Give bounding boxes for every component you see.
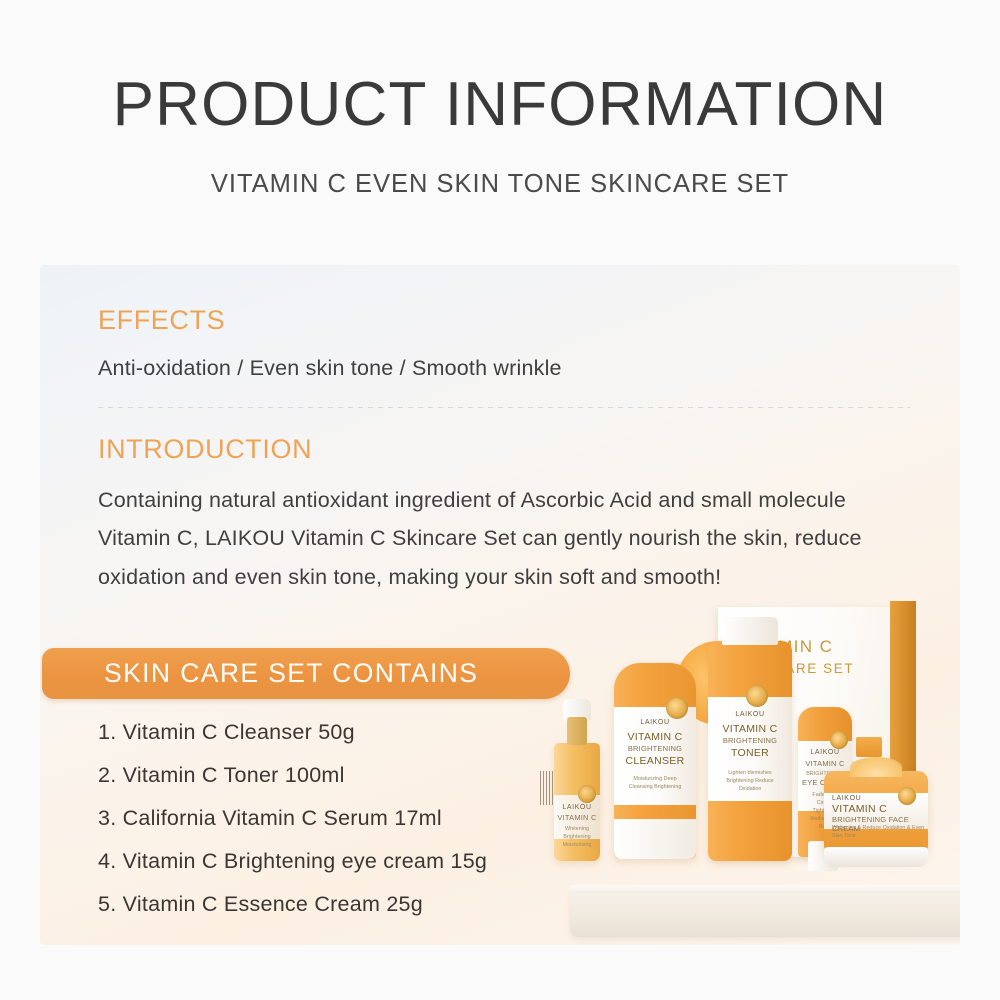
list-item: 4. Vitamin C Brightening eye cream 15g (98, 849, 487, 892)
list-item: 2. Vitamin C Toner 100ml (98, 763, 487, 806)
barcode-icon (540, 771, 555, 805)
toner-label-panel: LAIKOU VITAMIN C BRIGHTENING TONER Light… (708, 697, 792, 801)
face-cream-brand: LAIKOU (824, 795, 936, 802)
cleanser-name-main: VITAMIN C (614, 731, 696, 743)
face-cream-label-panel: LAIKOU VITAMIN C BRIGHTENING FACE CREAM … (824, 793, 928, 829)
cleanser-description: Moisturizing Deep Cleansing Brightening (614, 775, 696, 791)
product-set-photo: VITAMIN C SKINCARE SET Eye Cream 15g/0.5… (540, 595, 960, 943)
vitamin-c-badge-icon (830, 731, 848, 749)
vitamin-c-badge-icon (746, 685, 768, 707)
toner-lid (722, 617, 778, 645)
face-cream-name-main: VITAMIN C (824, 803, 936, 815)
face-cream-swirl (850, 757, 902, 777)
face-cream-base (824, 847, 928, 867)
cleanser-name-sub2: CLEANSER (614, 755, 696, 767)
eye-cream-brand: LAIKOU (798, 749, 852, 756)
page-header: PRODUCT INFORMATION VITAMIN C EVEN SKIN … (0, 0, 1000, 199)
face-cream-jar-icon (856, 737, 882, 757)
contains-banner-label: SKIN CARE SET CONTAINS (42, 658, 478, 689)
section-divider (98, 407, 910, 408)
shelf-surface (570, 885, 960, 893)
list-item: 1. Vitamin C Cleanser 50g (98, 720, 487, 763)
list-item: 5. Vitamin C Essence Cream 25g (98, 892, 487, 935)
introduction-heading: INTRODUCTION (98, 408, 918, 465)
effects-text: Anti-oxidation / Even skin tone / Smooth… (98, 336, 918, 381)
toner-name-main: VITAMIN C (708, 723, 792, 735)
vitamin-c-badge-icon (578, 785, 596, 803)
skin-care-set-contains-banner: SKIN CARE SET CONTAINS (42, 648, 570, 699)
toner-description: Lighten blemishes Brightening Reduce Oxi… (708, 769, 792, 793)
toner-name-sub: BRIGHTENING (708, 736, 792, 745)
product-cleanser: LAIKOU VITAMIN C BRIGHTENING CLEANSER Mo… (614, 663, 696, 859)
product-toner: LAIKOU VITAMIN C BRIGHTENING TONER Light… (708, 641, 792, 861)
cleanser-label-panel: LAIKOU VITAMIN C BRIGHTENING CLEANSER Mo… (614, 707, 696, 805)
skin-care-set-contents-list: 1. Vitamin C Cleanser 50g 2. Vitamin C T… (98, 720, 487, 935)
list-item: 3. California Vitamin C Serum 17ml (98, 806, 487, 849)
card-text-content: EFFECTS Anti-oxidation / Even skin tone … (98, 305, 918, 596)
page-title: PRODUCT INFORMATION (0, 0, 1000, 136)
effects-heading: EFFECTS (98, 305, 918, 336)
product-face-cream: LAIKOU VITAMIN C BRIGHTENING FACE CREAM … (824, 771, 928, 857)
serum-description: Whitening Brightening Moisturizing (554, 825, 600, 849)
page-subtitle: VITAMIN C EVEN SKIN TONE SKINCARE SET (0, 136, 1000, 199)
serum-dropper-neck (567, 717, 587, 745)
cleanser-cap (614, 819, 696, 859)
cleanser-name-sub: BRIGHTENING (614, 744, 696, 753)
serum-name-main: VITAMIN C (554, 813, 600, 822)
cleanser-brand: LAIKOU (614, 719, 696, 726)
product-information-card: EFFECTS Anti-oxidation / Even skin tone … (40, 265, 960, 945)
serum-brand: LAIKOU (554, 804, 600, 811)
face-cream-description: Whitening & Reduce Oxidation & Even Skin… (824, 824, 936, 840)
product-serum: LAIKOU VITAMIN C Whitening Brightening M… (554, 743, 600, 861)
eye-cream-name-main: VITAMIN C (798, 759, 852, 768)
introduction-text: Containing natural antioxidant ingredien… (98, 465, 888, 596)
toner-name-sub2: TONER (708, 747, 792, 759)
shelf-front (570, 893, 960, 937)
vitamin-c-badge-icon (666, 697, 688, 719)
serum-label-panel: LAIKOU VITAMIN C Whitening Brightening M… (554, 795, 600, 839)
toner-brand: LAIKOU (708, 711, 792, 718)
